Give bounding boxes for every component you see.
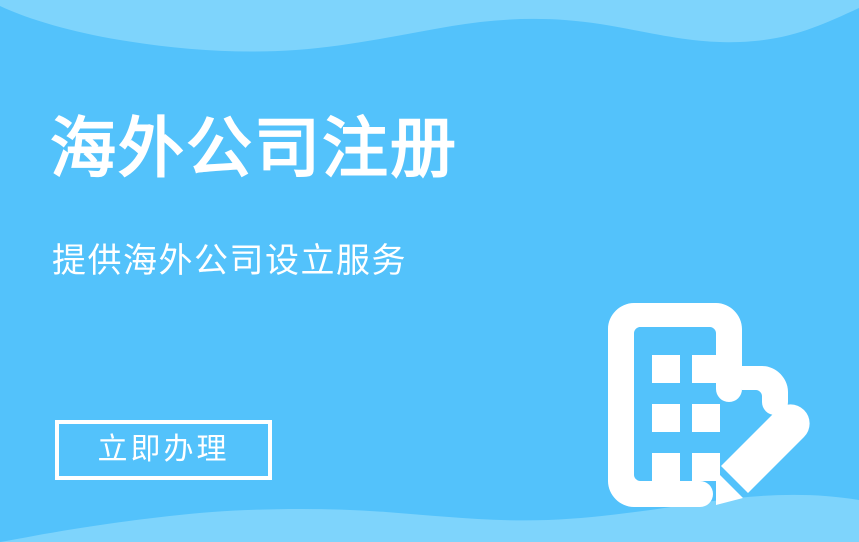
- page-subtitle: 提供海外公司设立服务: [52, 241, 407, 282]
- wave-decoration-icon: [0, 0, 859, 70]
- apply-now-button[interactable]: 立即办理: [55, 420, 272, 480]
- page-title: 海外公司注册: [50, 112, 458, 185]
- overseas-company-registration-banner: 海外公司注册 提供海外公司设立服务 立即办理: [0, 0, 859, 542]
- apply-now-button-label: 立即办理: [98, 435, 230, 465]
- building-with-pencil-icon: [608, 303, 828, 515]
